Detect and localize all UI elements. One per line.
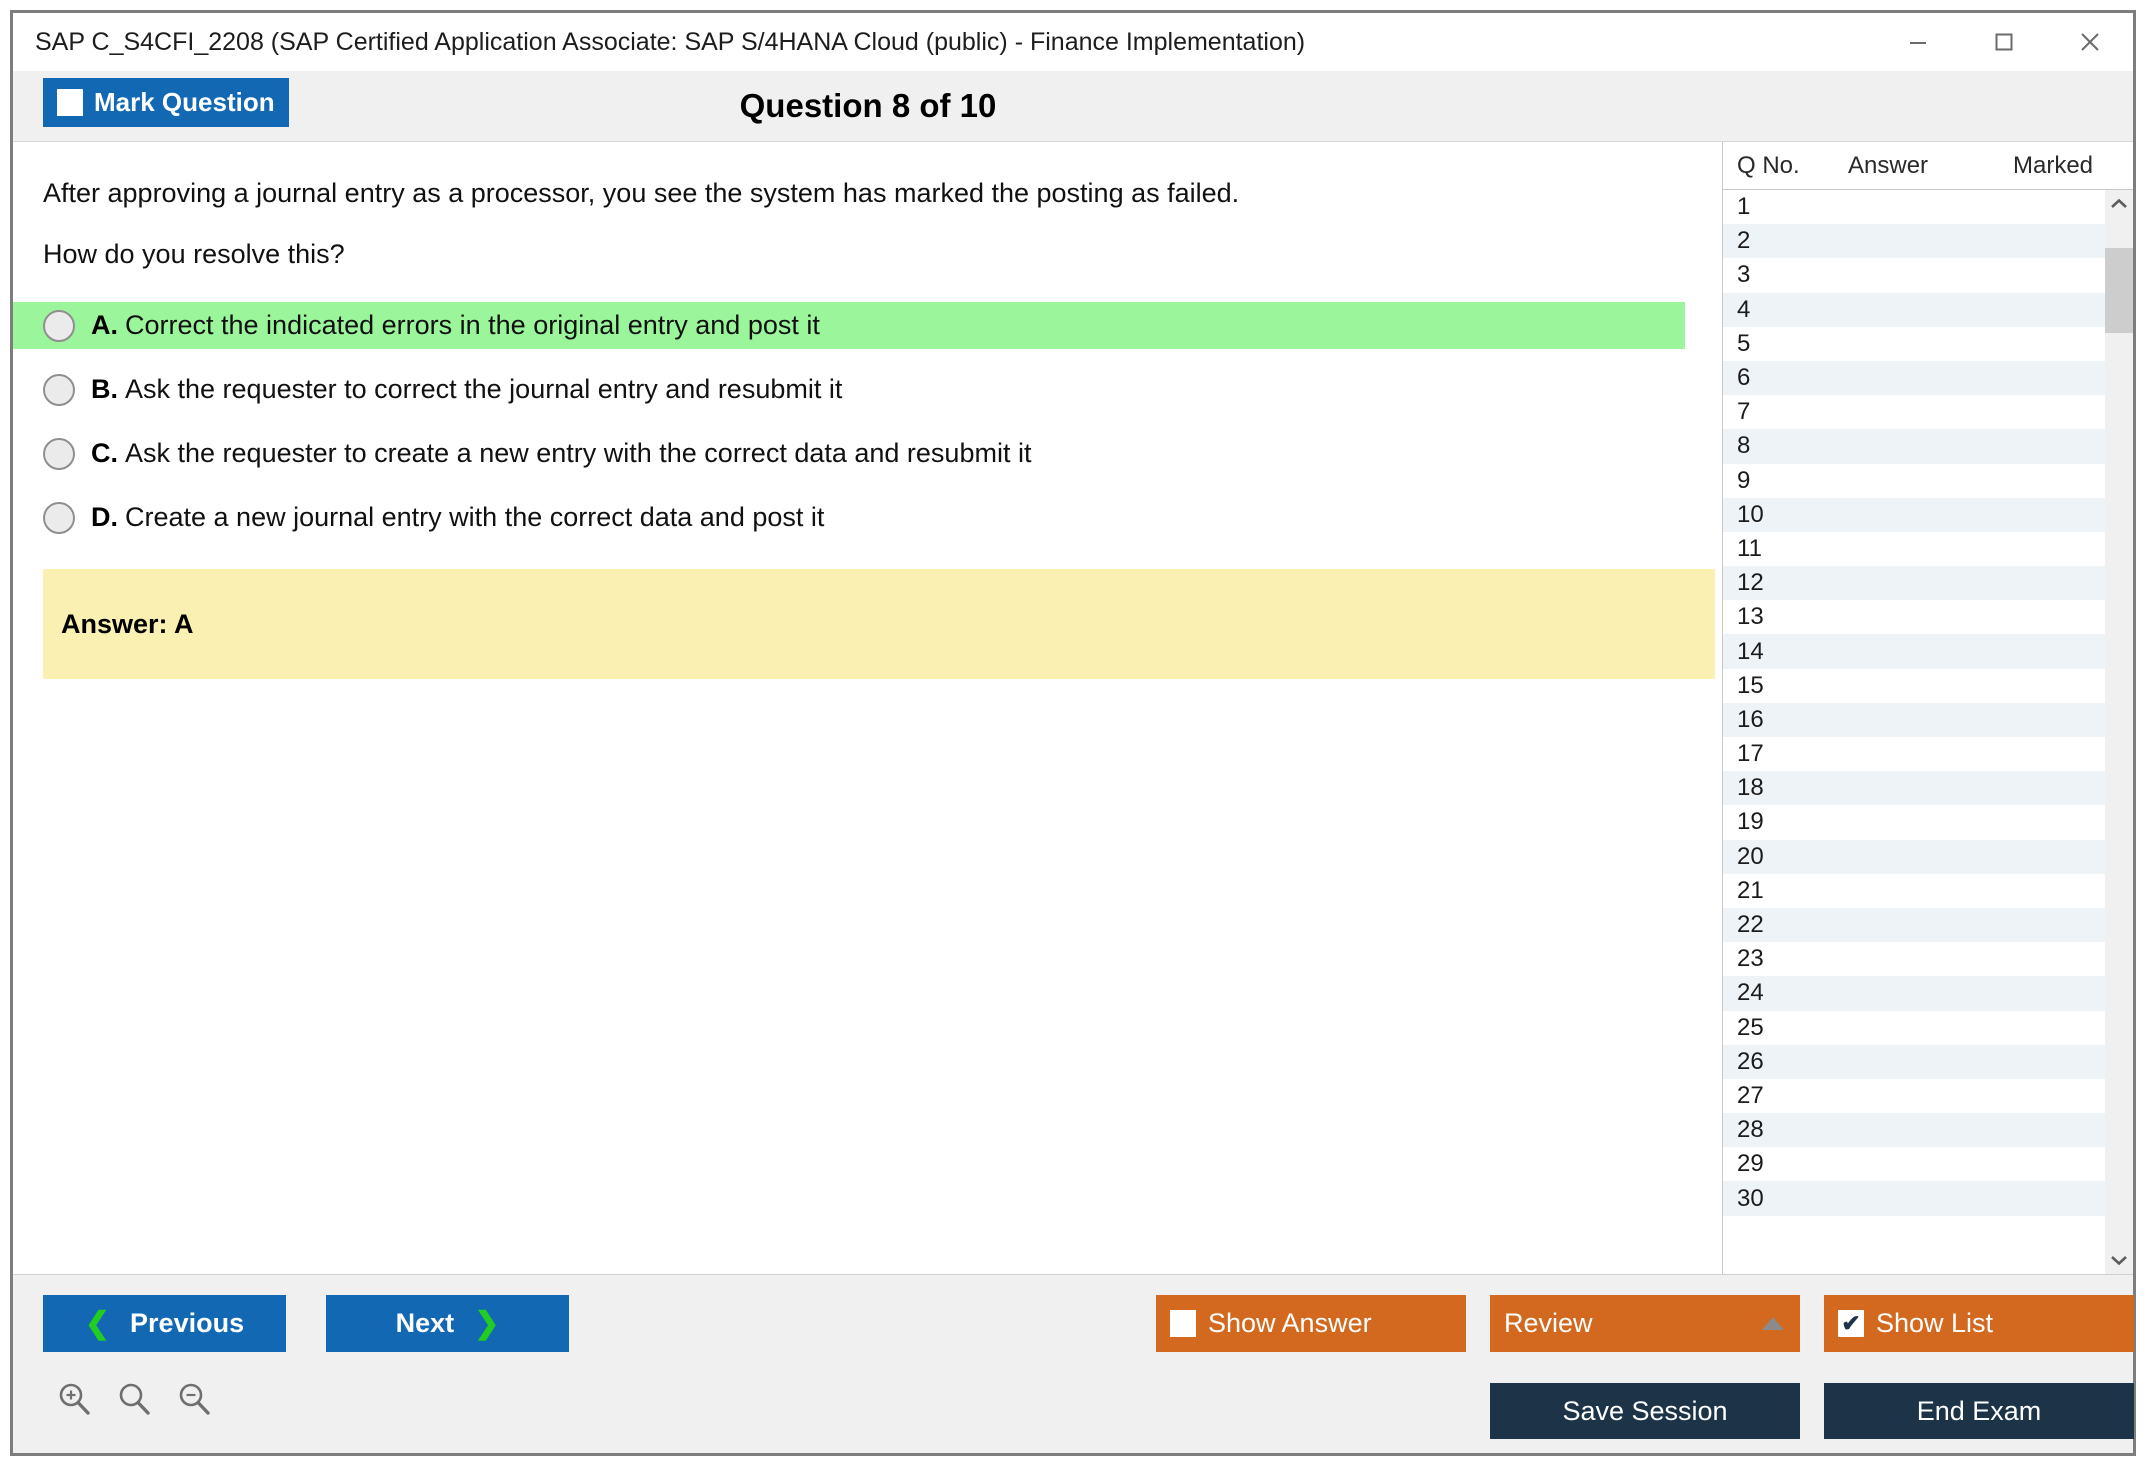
question-list-row[interactable]: 28 (1723, 1113, 2105, 1147)
answer-reveal-text: Answer: A (61, 609, 194, 640)
option-letter-b: B. (91, 374, 118, 405)
row-question-number: 4 (1723, 296, 1840, 324)
question-list-row[interactable]: 6 (1723, 361, 2105, 395)
row-question-number: 2 (1723, 227, 1840, 255)
question-list-row[interactable]: 20 (1723, 840, 2105, 874)
next-label: Next (396, 1308, 455, 1339)
question-list-row[interactable]: 13 (1723, 600, 2105, 634)
maximize-icon (1991, 29, 2017, 55)
question-list-row[interactable]: 2 (1723, 224, 2105, 258)
question-list-header: Q No. Answer Marked (1723, 142, 2133, 190)
question-list-row[interactable]: 3 (1723, 258, 2105, 292)
question-list-row[interactable]: 30 (1723, 1181, 2105, 1215)
answer-option-a[interactable]: A. Correct the indicated errors in the o… (13, 302, 1685, 349)
previous-button[interactable]: ❮ Previous (43, 1295, 286, 1352)
row-question-number: 1 (1723, 193, 1840, 221)
question-counter: Question 8 of 10 (13, 87, 1723, 125)
row-question-number: 10 (1723, 501, 1840, 529)
row-question-number: 12 (1723, 569, 1840, 597)
column-header-marked: Marked (2013, 152, 2133, 180)
question-stem-line-1: After approving a journal entry as a pro… (43, 142, 1692, 209)
option-text-d: Create a new journal entry with the corr… (125, 502, 824, 533)
zoom-in-icon[interactable] (55, 1380, 93, 1418)
previous-label: Previous (130, 1308, 244, 1339)
row-question-number: 9 (1723, 467, 1840, 495)
row-question-number: 6 (1723, 364, 1840, 392)
question-list-row[interactable]: 26 (1723, 1045, 2105, 1079)
question-list-row[interactable]: 16 (1723, 703, 2105, 737)
question-list-body: 1234567891011121314151617181920212223242… (1723, 190, 2133, 1274)
question-list-row[interactable]: 10 (1723, 498, 2105, 532)
answer-reveal-box: Answer: A (43, 569, 1715, 679)
row-question-number: 27 (1723, 1082, 1840, 1110)
question-list-row[interactable]: 8 (1723, 429, 2105, 463)
row-question-number: 18 (1723, 774, 1840, 802)
question-list-row[interactable]: 23 (1723, 942, 2105, 976)
check-icon: ✔ (1841, 1312, 1860, 1335)
question-list-row[interactable]: 25 (1723, 1011, 2105, 1045)
question-list-row[interactable]: 7 (1723, 395, 2105, 429)
window-title: SAP C_S4CFI_2208 (SAP Certified Applicat… (13, 28, 1305, 57)
option-text-b: Ask the requester to correct the journal… (125, 374, 842, 405)
row-question-number: 11 (1723, 535, 1840, 563)
answer-options: A. Correct the indicated errors in the o… (13, 302, 1722, 541)
radio-icon-d[interactable] (43, 502, 75, 534)
column-header-qno: Q No. (1723, 152, 1848, 180)
chevron-up-icon (2109, 197, 2129, 211)
footer-toolbar: ❮ Previous Next ❯ Show Answer Review ✔ S… (13, 1274, 2133, 1453)
chevron-left-icon: ❮ (85, 1306, 110, 1341)
row-question-number: 30 (1723, 1185, 1840, 1213)
radio-icon-b[interactable] (43, 374, 75, 406)
question-stem: After approving a journal entry as a pro… (13, 142, 1722, 270)
radio-icon-c[interactable] (43, 438, 75, 470)
option-letter-c: C. (91, 438, 118, 469)
question-content: After approving a journal entry as a pro… (13, 142, 1722, 1274)
row-question-number: 26 (1723, 1048, 1840, 1076)
question-list-row[interactable]: 21 (1723, 874, 2105, 908)
question-list-row[interactable]: 4 (1723, 293, 2105, 327)
question-list-row[interactable]: 19 (1723, 805, 2105, 839)
review-label: Review (1504, 1308, 1593, 1339)
close-icon (2075, 27, 2105, 57)
show-list-checkbox-icon[interactable]: ✔ (1838, 1310, 1864, 1337)
save-session-button[interactable]: Save Session (1490, 1383, 1800, 1439)
next-button[interactable]: Next ❯ (326, 1295, 569, 1352)
show-answer-label: Show Answer (1208, 1308, 1372, 1339)
scroll-down-button[interactable] (2105, 1246, 2133, 1274)
question-list-scrollbar[interactable] (2105, 190, 2133, 1274)
question-list-rows: 1234567891011121314151617181920212223242… (1723, 190, 2105, 1274)
row-question-number: 8 (1723, 432, 1840, 460)
question-list-row[interactable]: 17 (1723, 737, 2105, 771)
row-question-number: 28 (1723, 1116, 1840, 1144)
row-question-number: 25 (1723, 1014, 1840, 1042)
question-list-row[interactable]: 5 (1723, 327, 2105, 361)
maximize-button[interactable] (1961, 13, 2047, 71)
zoom-reset-icon[interactable] (115, 1380, 153, 1418)
answer-option-c[interactable]: C. Ask the requester to create a new ent… (13, 430, 1722, 477)
question-list-row[interactable]: 14 (1723, 634, 2105, 668)
minimize-button[interactable] (1875, 13, 1961, 71)
show-answer-checkbox-icon[interactable] (1170, 1310, 1196, 1337)
row-question-number: 14 (1723, 638, 1840, 666)
zoom-controls (55, 1380, 213, 1418)
question-list-row[interactable]: 15 (1723, 669, 2105, 703)
row-question-number: 22 (1723, 911, 1840, 939)
row-question-number: 13 (1723, 603, 1840, 631)
window-controls (1875, 13, 2133, 71)
show-answer-button[interactable]: Show Answer (1156, 1295, 1466, 1352)
row-question-number: 16 (1723, 706, 1840, 734)
question-list-row[interactable]: 18 (1723, 771, 2105, 805)
option-text-a: Correct the indicated errors in the orig… (125, 310, 820, 341)
question-list-panel: Q No. Answer Marked 12345678910111213141… (1722, 142, 2133, 1274)
app-root: SAP C_S4CFI_2208 (SAP Certified Applicat… (0, 0, 2150, 1470)
row-question-number: 20 (1723, 843, 1840, 871)
question-list-row[interactable]: 27 (1723, 1079, 2105, 1113)
review-dropdown-button[interactable]: Review (1490, 1295, 1800, 1352)
question-list-row[interactable]: 22 (1723, 908, 2105, 942)
row-question-number: 15 (1723, 672, 1840, 700)
save-session-label: Save Session (1562, 1396, 1727, 1427)
minimize-icon (1905, 29, 1931, 55)
show-list-button[interactable]: ✔ Show List (1824, 1295, 2134, 1352)
row-question-number: 29 (1723, 1150, 1840, 1178)
answer-option-b[interactable]: B. Ask the requester to correct the jour… (13, 366, 1722, 413)
body-area: After approving a journal entry as a pro… (13, 141, 2133, 1274)
row-question-number: 17 (1723, 740, 1840, 768)
triangle-up-icon (1762, 1317, 1784, 1330)
question-list-row[interactable]: 12 (1723, 566, 2105, 600)
show-list-label: Show List (1876, 1308, 1993, 1339)
row-question-number: 23 (1723, 945, 1840, 973)
scrollbar-thumb[interactable] (2105, 248, 2133, 333)
option-letter-a: A. (91, 310, 118, 341)
question-list-row[interactable]: 1 (1723, 190, 2105, 224)
question-stem-line-2: How do you resolve this? (43, 209, 1692, 270)
row-question-number: 3 (1723, 261, 1840, 289)
title-bar: SAP C_S4CFI_2208 (SAP Certified Applicat… (13, 13, 2133, 71)
question-list-row[interactable]: 29 (1723, 1147, 2105, 1181)
option-text-c: Ask the requester to create a new entry … (125, 438, 1031, 469)
end-exam-label: End Exam (1917, 1396, 2042, 1427)
row-question-number: 24 (1723, 979, 1840, 1007)
question-list-row[interactable]: 9 (1723, 464, 2105, 498)
toolbar: Mark Question Question 8 of 10 (13, 71, 2133, 141)
zoom-out-icon[interactable] (175, 1380, 213, 1418)
row-question-number: 5 (1723, 330, 1840, 358)
option-letter-d: D. (91, 502, 118, 533)
row-question-number: 7 (1723, 398, 1840, 426)
end-exam-button[interactable]: End Exam (1824, 1383, 2134, 1439)
row-question-number: 21 (1723, 877, 1840, 905)
column-header-answer: Answer (1848, 152, 2013, 180)
chevron-right-icon: ❯ (474, 1306, 499, 1341)
question-list-row[interactable]: 11 (1723, 532, 2105, 566)
answer-option-d[interactable]: D. Create a new journal entry with the c… (13, 494, 1722, 541)
scroll-up-button[interactable] (2105, 190, 2133, 218)
exam-window: SAP C_S4CFI_2208 (SAP Certified Applicat… (10, 10, 2136, 1456)
radio-icon-a[interactable] (43, 310, 75, 342)
question-list-row[interactable]: 24 (1723, 976, 2105, 1010)
row-question-number: 19 (1723, 808, 1840, 836)
close-button[interactable] (2047, 13, 2133, 71)
chevron-down-icon (2109, 1253, 2129, 1267)
